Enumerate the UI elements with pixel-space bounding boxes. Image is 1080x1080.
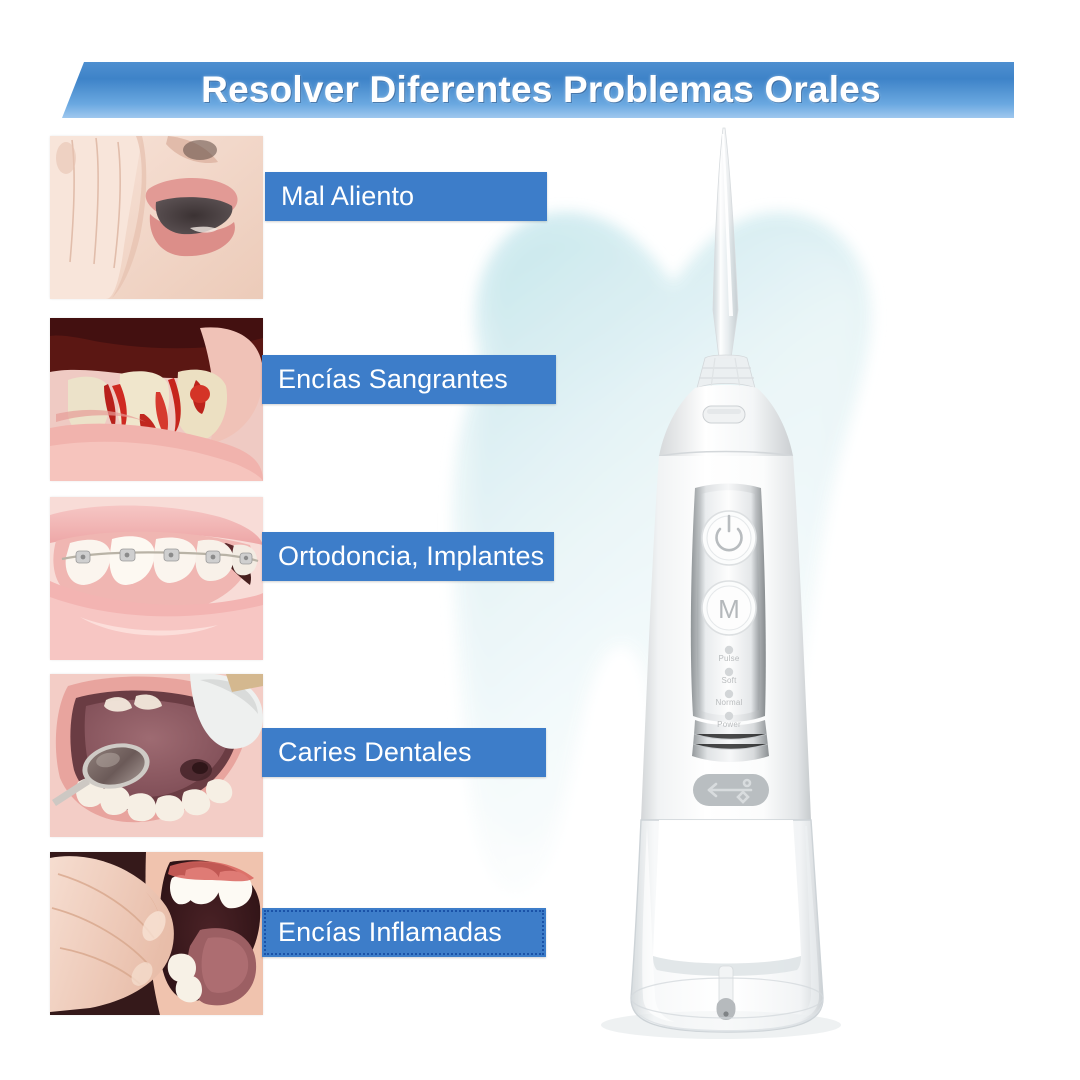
problem-tag-1[interactable]: Mal Aliento bbox=[265, 172, 547, 221]
problem-tag-4[interactable]: Caries Dentales bbox=[262, 728, 546, 777]
water-flosser-device: M bbox=[555, 120, 885, 1040]
problem-image-4 bbox=[50, 674, 263, 837]
problem-label-2: Encías Sangrantes bbox=[278, 364, 508, 395]
problem-image-3 bbox=[50, 497, 263, 660]
problem-label-3: Ortodoncia, Implantes bbox=[278, 541, 544, 572]
indicator-label-power: Power bbox=[699, 720, 759, 729]
title-banner: Resolver Diferentes Problemas Orales bbox=[62, 62, 1014, 118]
problem-image-2 bbox=[50, 318, 263, 481]
indicator-label-soft: Soft bbox=[699, 676, 759, 685]
problem-tag-2[interactable]: Encías Sangrantes bbox=[262, 355, 556, 404]
problem-label-1: Mal Aliento bbox=[281, 181, 414, 212]
problem-image-1 bbox=[50, 136, 263, 299]
indicator-label-pulse: Pulse bbox=[699, 654, 759, 663]
problem-label-5: Encías Inflamadas bbox=[278, 917, 502, 948]
mode-indicator-labels: Pulse Soft Normal Power bbox=[555, 120, 885, 1040]
problem-image-5 bbox=[50, 852, 263, 1015]
indicator-label-normal: Normal bbox=[699, 698, 759, 707]
product-infographic: Mal Aliento bbox=[0, 0, 1080, 1080]
problem-tag-3[interactable]: Ortodoncia, Implantes bbox=[262, 532, 554, 581]
problem-label-4: Caries Dentales bbox=[278, 737, 472, 768]
problem-tag-5[interactable]: Encías Inflamadas bbox=[262, 908, 546, 957]
page-title: Resolver Diferentes Problemas Orales bbox=[62, 62, 1014, 118]
